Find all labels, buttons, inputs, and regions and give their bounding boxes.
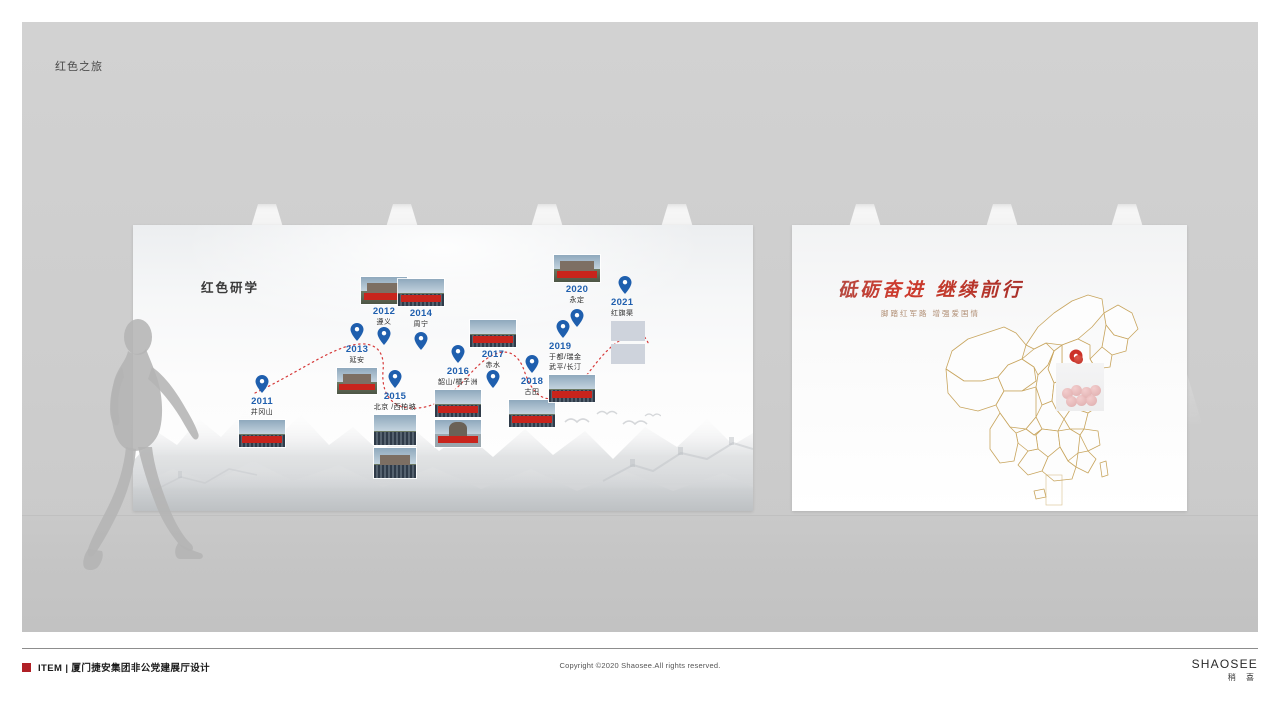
brand-name: SHAOSEE: [1192, 657, 1258, 671]
timeline-year: 2015: [365, 391, 425, 402]
timeline-node-2015[interactable]: 2015 北京 /西柏坡: [365, 377, 425, 478]
timeline-year: 2011: [237, 396, 287, 407]
timeline-photo-placeholder[interactable]: [611, 321, 645, 341]
timeline-place-secondary: 武平/长汀: [549, 363, 609, 372]
map-pin-icon: [571, 309, 584, 327]
timeline-photo[interactable]: [435, 390, 481, 417]
timeline-node-2020[interactable]: 2020 永定: [551, 255, 603, 305]
timeline-year: 2013: [332, 344, 382, 355]
footer-divider: [22, 648, 1258, 649]
timeline-node-2021[interactable]: 2021 红旗渠: [611, 283, 663, 364]
timeline-place: 永定: [551, 296, 603, 305]
brand-block: SHAOSEE 稍 喜: [1192, 657, 1258, 683]
map-pin-icon: [557, 320, 570, 338]
timeline-year: 2014: [393, 308, 449, 319]
timeline-photo-placeholder[interactable]: [611, 344, 645, 364]
timeline-photo[interactable]: [509, 400, 555, 427]
square-bullet-icon: [22, 663, 31, 672]
project-label: ITEM | 厦门捷安集团非公党建展厅设计: [38, 660, 210, 674]
timeline: 2011 井冈山 2012 遵义: [133, 225, 753, 511]
timeline-place: 韶山/橘子洲: [427, 378, 489, 387]
map-pin-icon: [351, 323, 364, 341]
right-exhibit-panel: 砥砺奋进 继续前行 脚踏红军路 增强爱国情: [792, 225, 1187, 511]
footer-project: ITEM | 厦门捷安集团非公党建展厅设计: [22, 660, 210, 674]
panel-heading: 红色研学: [201, 277, 259, 296]
timeline-year: 2019: [549, 341, 609, 352]
timeline-year: 2021: [611, 297, 663, 308]
map-pin-icon: [619, 276, 632, 294]
inset-ornament: [1086, 395, 1097, 406]
copyright-text: Copyright ©2020 Shaosee.All rights reser…: [559, 661, 720, 670]
timeline-photo[interactable]: [239, 420, 285, 447]
left-exhibit-panel: 红色研学 2011 井冈山: [133, 225, 753, 511]
map-pin-icon: [526, 355, 539, 373]
timeline-place: 延安: [332, 356, 382, 365]
inset-red-marker-icon: [1074, 355, 1083, 364]
timeline-year: 2017: [467, 349, 519, 360]
timeline-place: 周宁: [393, 320, 449, 329]
map-pin-icon: [415, 332, 428, 350]
timeline-photo[interactable]: [470, 320, 516, 347]
timeline-photo[interactable]: [554, 255, 600, 282]
map-pin-icon: [389, 370, 402, 388]
timeline-photo[interactable]: [549, 375, 595, 402]
exhibition-stage: 红色之旅: [22, 22, 1258, 632]
timeline-place: 于都/瑞金: [549, 353, 609, 362]
timeline-photo[interactable]: [398, 279, 444, 306]
timeline-place: 井冈山: [237, 408, 287, 417]
timeline-year: 2020: [551, 284, 603, 295]
timeline-node-2011[interactable]: 2011 井冈山: [237, 382, 287, 447]
timeline-photo[interactable]: [374, 415, 416, 445]
timeline-photo[interactable]: [374, 448, 416, 478]
timeline-node-2019[interactable]: 2019 于都/瑞金 武平/长汀: [549, 327, 609, 402]
timeline-place: 北京 /西柏坡: [365, 403, 425, 412]
footer: ITEM | 厦门捷安集团非公党建展厅设计 Copyright ©2020 Sh…: [22, 660, 1258, 700]
map-pin-icon: [256, 375, 269, 393]
timeline-photo[interactable]: [435, 420, 481, 447]
slide-root: 红色之旅: [0, 0, 1280, 720]
gallery-floor: [22, 515, 1258, 632]
map-pin-icon: [487, 370, 500, 388]
map-pin-icon: [452, 345, 465, 363]
timeline-place: 红旗渠: [611, 309, 663, 318]
brand-name-cn: 稍 喜: [1192, 672, 1258, 683]
wall-label: 红色之旅: [55, 58, 103, 74]
timeline-node-2014[interactable]: 2014 周宁: [393, 279, 449, 329]
visitor-silhouette: [82, 315, 207, 580]
